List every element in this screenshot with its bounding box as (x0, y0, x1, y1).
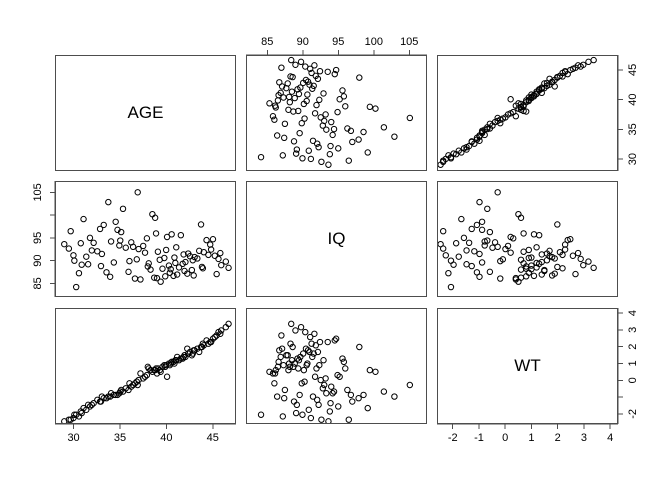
panel-age-vs-wt (437, 55, 618, 171)
svg-text:1: 1 (627, 360, 639, 366)
svg-text:45: 45 (627, 64, 639, 76)
svg-text:1: 1 (528, 432, 534, 444)
svg-text:40: 40 (627, 93, 639, 105)
svg-text:95: 95 (332, 36, 344, 48)
panel-iq-iq: IQ (246, 181, 427, 297)
axis-right-wt: -201234 (618, 308, 658, 424)
scatterplot-matrix-figure: AGE IQ WT 859095100105 30354045 85909510… (0, 0, 672, 480)
svg-text:35: 35 (627, 123, 639, 135)
panel-wt-vs-iq (246, 308, 427, 424)
svg-text:105: 105 (32, 183, 44, 201)
svg-text:85: 85 (32, 277, 44, 289)
svg-text:95: 95 (32, 232, 44, 244)
panel-iq-vs-age (55, 181, 236, 297)
axis-bottom-wt: -2-101234 (437, 424, 618, 459)
axis-left-iq: 859095105 (15, 181, 55, 297)
panel-age-age: AGE (55, 55, 236, 171)
axis-top-iq: 859095100105 (246, 20, 427, 55)
svg-text:90: 90 (297, 36, 309, 48)
svg-text:30: 30 (67, 432, 79, 444)
axis-bottom-age: 30354045 (55, 424, 236, 459)
svg-text:0: 0 (502, 432, 508, 444)
svg-text:45: 45 (207, 432, 219, 444)
svg-text:3: 3 (627, 327, 639, 333)
svg-text:30: 30 (627, 153, 639, 165)
svg-text:4: 4 (607, 432, 613, 444)
diagonal-label-wt: WT (438, 309, 617, 423)
svg-text:3: 3 (581, 432, 587, 444)
svg-text:85: 85 (261, 36, 273, 48)
panel-iq-vs-wt (437, 181, 618, 297)
panel-wt-vs-age (55, 308, 236, 424)
svg-text:0: 0 (627, 377, 639, 383)
diagonal-label-age: AGE (56, 56, 235, 170)
svg-text:2: 2 (627, 344, 639, 350)
svg-text:105: 105 (400, 36, 418, 48)
svg-text:2: 2 (555, 432, 561, 444)
panel-age-vs-iq (246, 55, 427, 171)
diagonal-label-iq: IQ (247, 182, 426, 296)
svg-text:40: 40 (160, 432, 172, 444)
panel-wt-wt: WT (437, 308, 618, 424)
axis-right-age: 30354045 (618, 55, 658, 171)
svg-text:90: 90 (32, 254, 44, 266)
svg-text:-2: -2 (627, 409, 639, 419)
svg-text:-1: -1 (474, 432, 484, 444)
svg-text:35: 35 (114, 432, 126, 444)
svg-text:100: 100 (365, 36, 383, 48)
svg-text:-2: -2 (448, 432, 458, 444)
svg-text:4: 4 (627, 310, 639, 316)
